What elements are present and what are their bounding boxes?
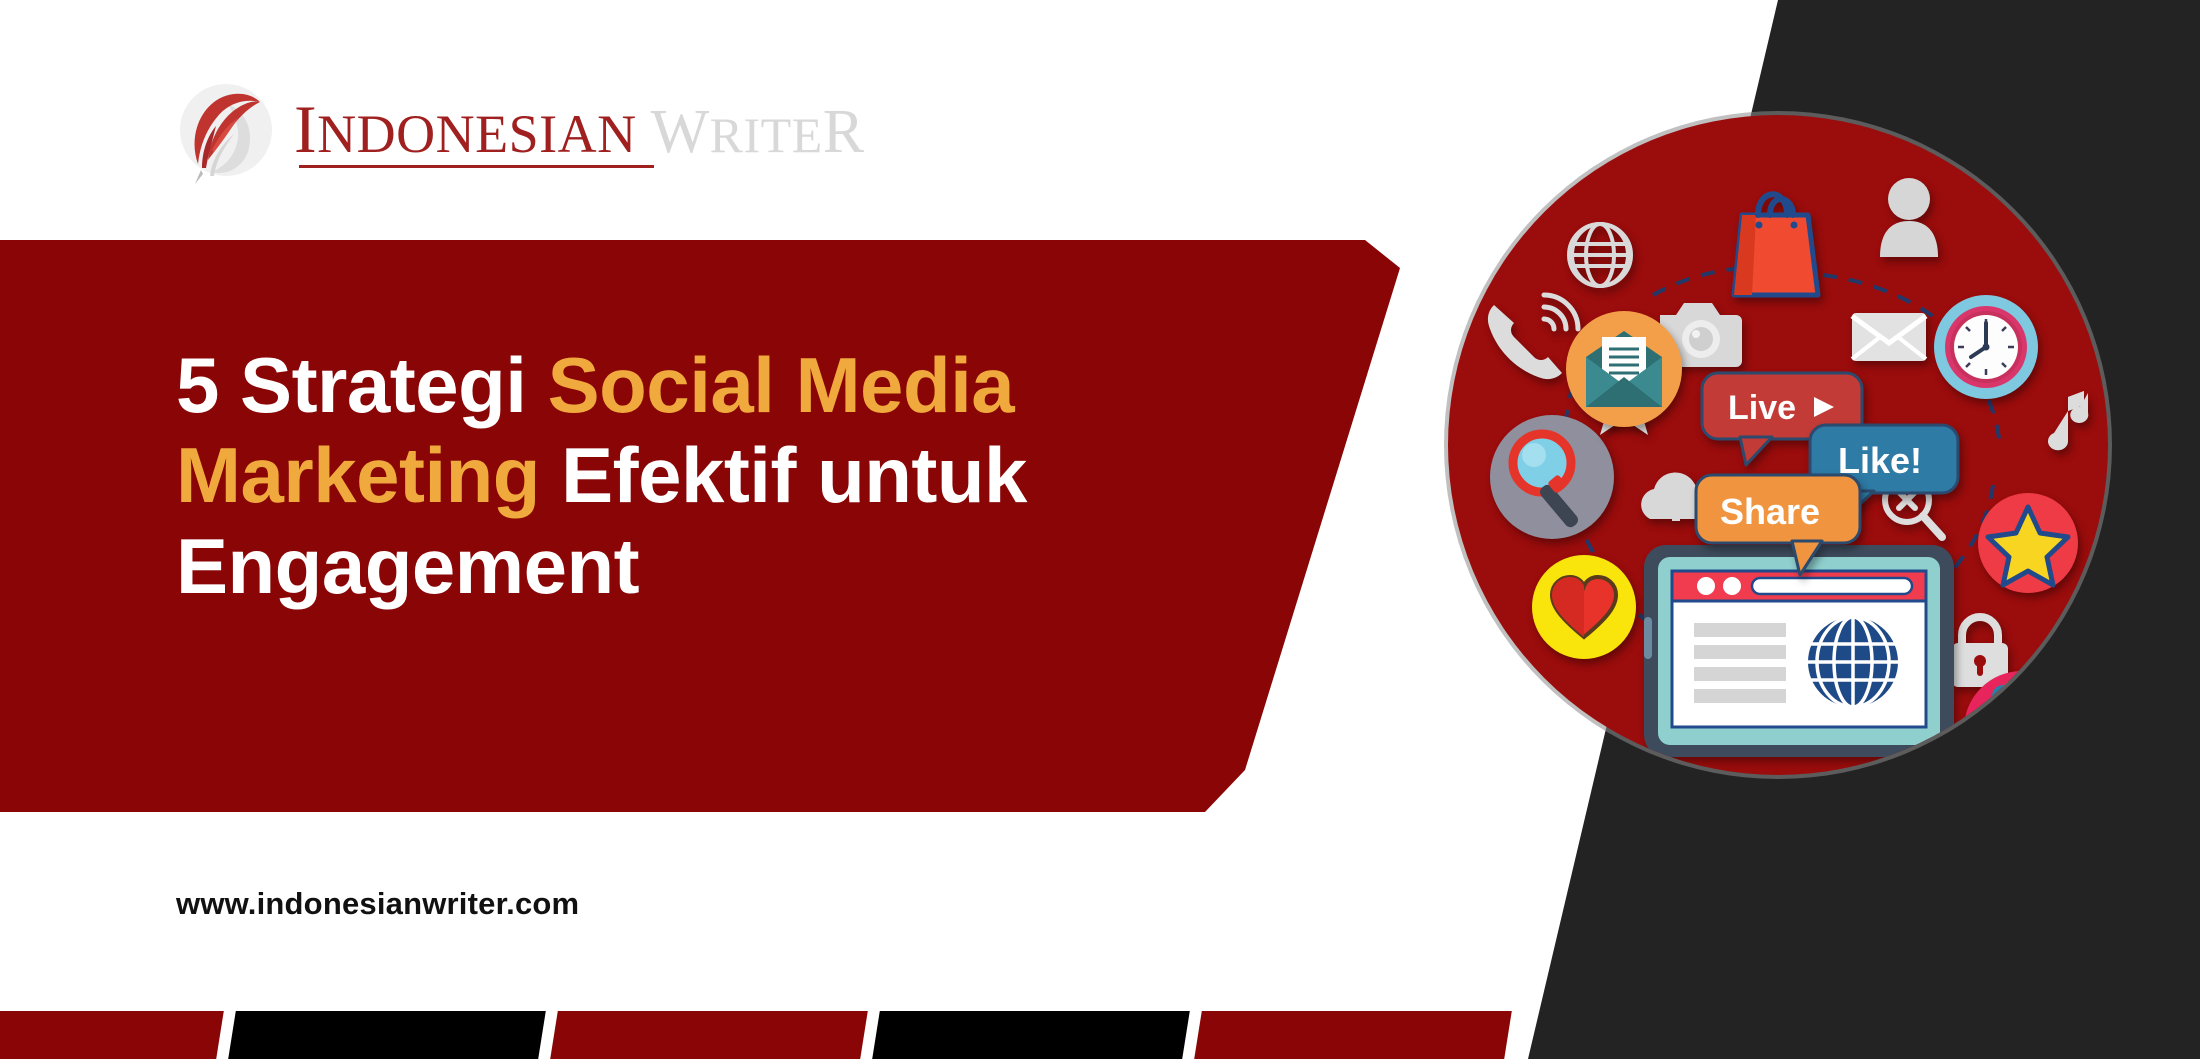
- user-avatar-icon: [1880, 178, 1938, 257]
- strip-block: [872, 1011, 1190, 1059]
- share-bubble-label: Share: [1720, 491, 1820, 532]
- social-media-blog-banner: INDONESIAN WRITER 5 Strategi Social Medi…: [0, 0, 2200, 1059]
- globe-wireframe-icon: [1569, 224, 1631, 286]
- social-media-illustration: Live Like! Share: [1448, 115, 2108, 775]
- title-line2-plain: Efektif untuk: [540, 431, 1027, 519]
- logo-word-writer: WRITER: [651, 101, 865, 163]
- title-line1-plain: 5 Strategi: [176, 341, 548, 429]
- strip-block: [1194, 1011, 1512, 1059]
- star-badge-icon: [1978, 493, 2078, 593]
- website-url[interactable]: www.indonesianwriter.com: [176, 886, 579, 922]
- shopping-bag-icon: [1734, 194, 1818, 295]
- mail-circle-icon: [1566, 311, 1682, 427]
- page-title: 5 Strategi Social Media Marketing Efekti…: [176, 340, 1027, 611]
- title-line2-highlight: Marketing: [176, 431, 540, 519]
- clock-icon: [1934, 295, 2038, 399]
- title-line3-plain: Engagement: [176, 522, 639, 610]
- title-line1-highlight: Social Media: [548, 341, 1015, 429]
- strip-block: [0, 1011, 224, 1059]
- heart-icon: [1532, 555, 1636, 659]
- logo-wordmark: INDONESIAN WRITER: [294, 89, 865, 168]
- strip-block: [550, 1011, 868, 1059]
- brand-logo[interactable]: INDONESIAN WRITER: [168, 72, 865, 184]
- magnifier-icon: [1490, 415, 1614, 539]
- browser-window-icon: [1644, 545, 1954, 757]
- logo-underline: [299, 165, 654, 168]
- envelope-icon: [1852, 313, 1926, 361]
- illustration-svg: Live Like! Share: [1448, 115, 2108, 775]
- strip-block: [228, 1011, 546, 1059]
- music-note-icon: [2048, 391, 2088, 450]
- feather-quill-icon: [168, 72, 280, 184]
- bottom-strip: [0, 1011, 1610, 1059]
- phone-call-icon: [1488, 295, 1578, 379]
- logo-word-indonesian: INDONESIAN: [294, 95, 637, 163]
- live-bubble-label: Live: [1728, 389, 1796, 427]
